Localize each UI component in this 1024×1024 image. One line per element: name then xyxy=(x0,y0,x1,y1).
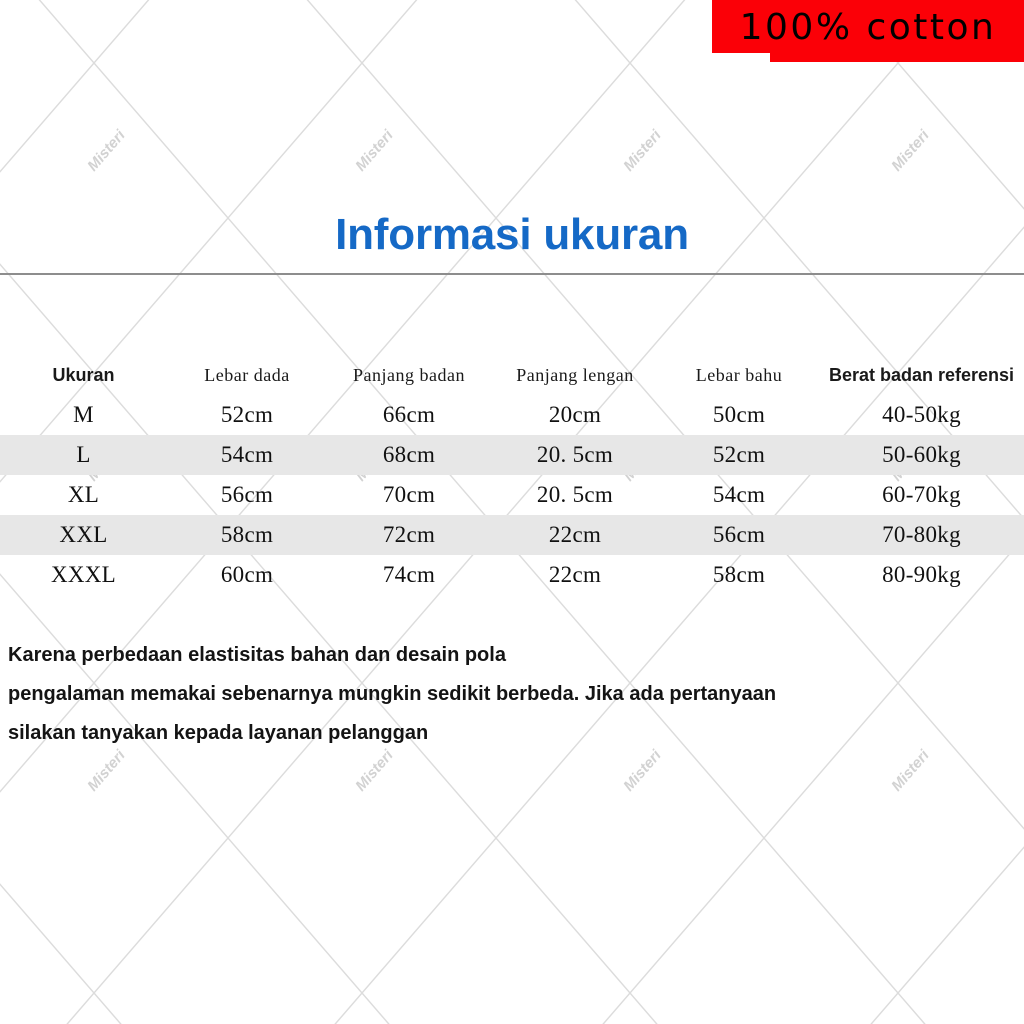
cell-weight-reference: 70-80kg xyxy=(819,515,1024,555)
cell-size: XL xyxy=(0,475,167,515)
cell-body-length: 66cm xyxy=(327,395,491,435)
watermark-text: Misteri xyxy=(620,126,665,174)
table-body: M 52cm 66cm 20cm 50cm 40-50kg L 54cm 68c… xyxy=(0,395,1024,595)
column-header-chest-width: Lebar dada xyxy=(167,355,327,395)
column-header-sleeve-length: Panjang lengan xyxy=(491,355,659,395)
watermark-text: Misteri xyxy=(352,126,397,174)
cell-body-length: 72cm xyxy=(327,515,491,555)
footer-note-line-2: pengalaman memakai sebenarnya mungkin se… xyxy=(8,675,1008,714)
cell-shoulder-width: 56cm xyxy=(659,515,819,555)
watermark-text: Misteri xyxy=(620,746,665,794)
cell-body-length: 74cm xyxy=(327,555,491,595)
column-header-body-length: Panjang badan xyxy=(327,355,491,395)
cell-size: XXL xyxy=(0,515,167,555)
column-header-weight-reference: Berat badan referensi xyxy=(819,355,1024,395)
cell-shoulder-width: 54cm xyxy=(659,475,819,515)
table-row: L 54cm 68cm 20. 5cm 52cm 50-60kg xyxy=(0,435,1024,475)
cell-shoulder-width: 50cm xyxy=(659,395,819,435)
cell-body-length: 68cm xyxy=(327,435,491,475)
cell-weight-reference: 40-50kg xyxy=(819,395,1024,435)
title-divider xyxy=(0,273,1024,275)
table-row: XXL 58cm 72cm 22cm 56cm 70-80kg xyxy=(0,515,1024,555)
banner-label: 100% cotton xyxy=(712,0,1024,55)
table-row: XL 56cm 70cm 20. 5cm 54cm 60-70kg xyxy=(0,475,1024,515)
cell-chest-width: 52cm xyxy=(167,395,327,435)
table-row: M 52cm 66cm 20cm 50cm 40-50kg xyxy=(0,395,1024,435)
title-block: Informasi ukuran xyxy=(0,206,1024,275)
footer-note-line-1: Karena perbedaan elastisitas bahan dan d… xyxy=(8,636,1008,675)
cell-size: L xyxy=(0,435,167,475)
table-header-row: Ukuran Lebar dada Panjang badan Panjang … xyxy=(0,355,1024,395)
cell-chest-width: 56cm xyxy=(167,475,327,515)
size-table: Ukuran Lebar dada Panjang badan Panjang … xyxy=(0,355,1024,595)
watermark-text: Misteri xyxy=(84,746,129,794)
cell-chest-width: 60cm xyxy=(167,555,327,595)
cotton-banner: 100% cotton xyxy=(712,0,1024,62)
cell-sleeve-length: 22cm xyxy=(491,515,659,555)
cell-sleeve-length: 22cm xyxy=(491,555,659,595)
watermark-text: Misteri xyxy=(888,126,933,174)
size-chart-page: Misteri Misteri Misteri Misteri Misteri … xyxy=(0,0,1024,1024)
cell-weight-reference: 80-90kg xyxy=(819,555,1024,595)
column-header-size: Ukuran xyxy=(0,355,167,395)
watermark-text: Misteri xyxy=(84,126,129,174)
page-title: Informasi ukuran xyxy=(0,206,1024,264)
cell-shoulder-width: 58cm xyxy=(659,555,819,595)
table-row: XXXL 60cm 74cm 22cm 58cm 80-90kg xyxy=(0,555,1024,595)
cell-sleeve-length: 20. 5cm xyxy=(491,435,659,475)
cell-chest-width: 54cm xyxy=(167,435,327,475)
footer-note-line-3: silakan tanyakan kepada layanan pelangga… xyxy=(8,714,1008,753)
cell-size: XXXL xyxy=(0,555,167,595)
column-header-shoulder-width: Lebar bahu xyxy=(659,355,819,395)
cell-chest-width: 58cm xyxy=(167,515,327,555)
cell-body-length: 70cm xyxy=(327,475,491,515)
cell-size: M xyxy=(0,395,167,435)
cell-sleeve-length: 20cm xyxy=(491,395,659,435)
cell-sleeve-length: 20. 5cm xyxy=(491,475,659,515)
footer-note: Karena perbedaan elastisitas bahan dan d… xyxy=(8,636,1008,753)
watermark-text: Misteri xyxy=(352,746,397,794)
cell-weight-reference: 50-60kg xyxy=(819,435,1024,475)
table-header: Ukuran Lebar dada Panjang badan Panjang … xyxy=(0,355,1024,395)
cell-weight-reference: 60-70kg xyxy=(819,475,1024,515)
watermark-text: Misteri xyxy=(888,746,933,794)
cell-shoulder-width: 52cm xyxy=(659,435,819,475)
